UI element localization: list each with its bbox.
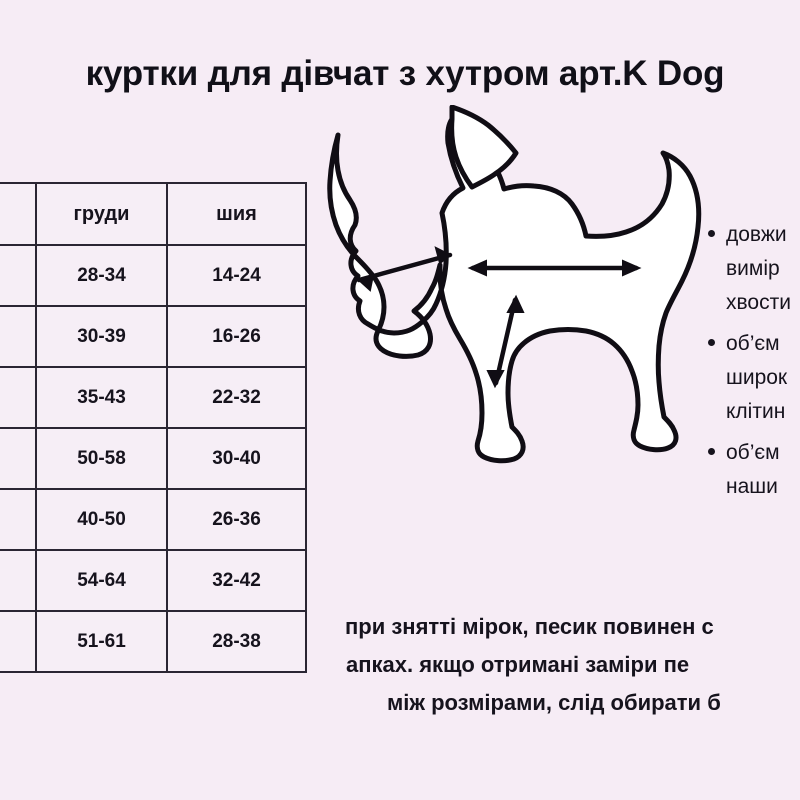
table-row: 50-5830-40 <box>0 428 306 489</box>
cell-size <box>0 306 36 367</box>
list-item-line: вимір <box>726 252 800 286</box>
cell-size <box>0 245 36 306</box>
cell-neck: 26-36 <box>167 489 306 550</box>
cell-chest: 50-58 <box>36 428 167 489</box>
cell-size <box>0 550 36 611</box>
list-item: об’ємширокклітин <box>726 327 800 429</box>
bullet-dot-icon <box>708 230 715 237</box>
bottom-note-line-2: лапках. якщо отримані заміри пе <box>345 646 800 684</box>
cell-size <box>0 611 36 672</box>
table-row: 28-3414-24 <box>0 245 306 306</box>
list-item-line: об’єм <box>726 436 800 470</box>
bullet-dot-icon <box>708 339 715 346</box>
table-row: 40-5026-36 <box>0 489 306 550</box>
cell-neck: 30-40 <box>167 428 306 489</box>
cell-neck: 14-24 <box>167 245 306 306</box>
measurement-notes-list: довживимірхвостиоб’ємширокклітиноб’ємнаш… <box>702 218 800 518</box>
list-item-line: об’єм <box>726 327 800 361</box>
list-item-line: довжи <box>726 218 800 252</box>
cell-neck: 28-38 <box>167 611 306 672</box>
list-item: довживимірхвости <box>726 218 800 320</box>
table-row: 51-6128-38 <box>0 611 306 672</box>
cell-chest: 51-61 <box>36 611 167 672</box>
table-header-row: а груди шия <box>0 183 306 245</box>
dog-body-outline <box>330 107 699 461</box>
cell-size <box>0 428 36 489</box>
table-row: 54-6432-42 <box>0 550 306 611</box>
list-item: об’ємнаши <box>726 436 800 504</box>
poster-canvas: куртки для дівчат з хутром арт.K Dog а г… <box>0 0 800 800</box>
cell-size <box>0 489 36 550</box>
page-title-text: куртки для дівчат з хутром арт.K Dog <box>86 46 725 102</box>
column-header-size: а <box>0 183 36 245</box>
table-row: 35-4322-32 <box>0 367 306 428</box>
bullet-dot-icon <box>708 448 715 455</box>
page-title: куртки для дівчат з хутром арт.K Dog <box>0 46 800 102</box>
cell-neck: 22-32 <box>167 367 306 428</box>
size-chart-table: а груди шия 28-3414-2430-3916-2635-4322-… <box>0 182 307 673</box>
bottom-note-line-3: між розмірами, слід обирати б <box>387 684 800 722</box>
bottom-note-line-1: при знятті мірок, песик повинен с <box>345 608 800 646</box>
cell-size <box>0 367 36 428</box>
table-row: 30-3916-26 <box>0 306 306 367</box>
dog-right-ear <box>452 107 516 187</box>
cell-chest: 35-43 <box>36 367 167 428</box>
dog-measurement-diagram <box>318 105 718 505</box>
list-item-line: широк <box>726 361 800 395</box>
cell-chest: 30-39 <box>36 306 167 367</box>
cell-chest: 54-64 <box>36 550 167 611</box>
list-item-line: наши <box>726 470 800 504</box>
size-chart-body: 28-3414-2430-3916-2635-4322-3250-5830-40… <box>0 245 306 672</box>
cell-chest: 28-34 <box>36 245 167 306</box>
measurement-notes-items: довживимірхвостиоб’ємширокклітиноб’ємнаш… <box>702 218 800 504</box>
list-item-line: хвости <box>726 286 800 320</box>
column-header-neck: шия <box>167 183 306 245</box>
bottom-note: при знятті мірок, песик повинен с лапках… <box>345 608 800 728</box>
cell-chest: 40-50 <box>36 489 167 550</box>
cell-neck: 16-26 <box>167 306 306 367</box>
column-header-chest: груди <box>36 183 167 245</box>
list-item-line: клітин <box>726 395 800 429</box>
cell-neck: 32-42 <box>167 550 306 611</box>
